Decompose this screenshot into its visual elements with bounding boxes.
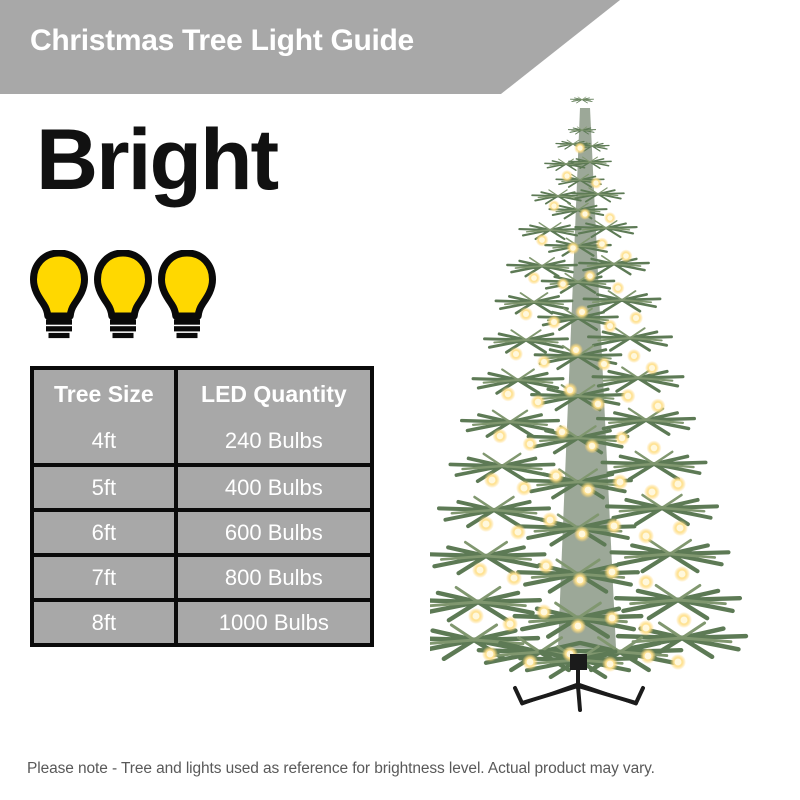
disclaimer-note: Please note - Tree and lights used as re… — [27, 760, 655, 778]
table-row: 7ft 800 Bulbs — [34, 553, 370, 598]
table-row: 8ft 1000 Bulbs — [34, 598, 370, 643]
bulb-rating-row — [30, 250, 216, 347]
cell-led-quantity: 800 Bulbs — [178, 553, 370, 598]
cell-led-quantity: 240 Bulbs — [178, 418, 370, 463]
column-header-led-quantity: LED Quantity — [178, 370, 370, 418]
light-bulb-icon — [94, 250, 152, 347]
cell-tree-size: 6ft — [34, 508, 178, 553]
table-head: Tree Size LED Quantity — [34, 370, 370, 418]
cell-led-quantity: 400 Bulbs — [178, 463, 370, 508]
table-header-row: Tree Size LED Quantity — [34, 370, 370, 418]
table-row: 5ft 400 Bulbs — [34, 463, 370, 508]
cell-tree-size: 4ft — [34, 418, 178, 463]
light-guide-infographic: Christmas Tree Light Guide Bright — [0, 0, 800, 800]
cell-led-quantity: 600 Bulbs — [178, 508, 370, 553]
table-row: 6ft 600 Bulbs — [34, 508, 370, 553]
tree-foliage — [430, 97, 746, 677]
led-quantity-table: Tree Size LED Quantity 4ft 240 Bulbs 5ft… — [30, 366, 374, 647]
cell-tree-size: 8ft — [34, 598, 178, 643]
brightness-level-label: Bright — [36, 117, 277, 203]
table-body: 4ft 240 Bulbs 5ft 400 Bulbs 6ft 600 Bulb… — [34, 418, 370, 643]
christmas-tree-image — [430, 88, 790, 713]
light-bulb-icon — [30, 250, 88, 347]
cell-tree-size: 5ft — [34, 463, 178, 508]
table-row: 4ft 240 Bulbs — [34, 418, 370, 463]
cell-tree-size: 7ft — [34, 553, 178, 598]
column-header-tree-size: Tree Size — [34, 370, 178, 418]
cell-led-quantity: 1000 Bulbs — [178, 598, 370, 643]
page-title: Christmas Tree Light Guide — [30, 23, 414, 59]
light-bulb-icon — [158, 250, 216, 347]
stand-collar — [570, 654, 587, 670]
